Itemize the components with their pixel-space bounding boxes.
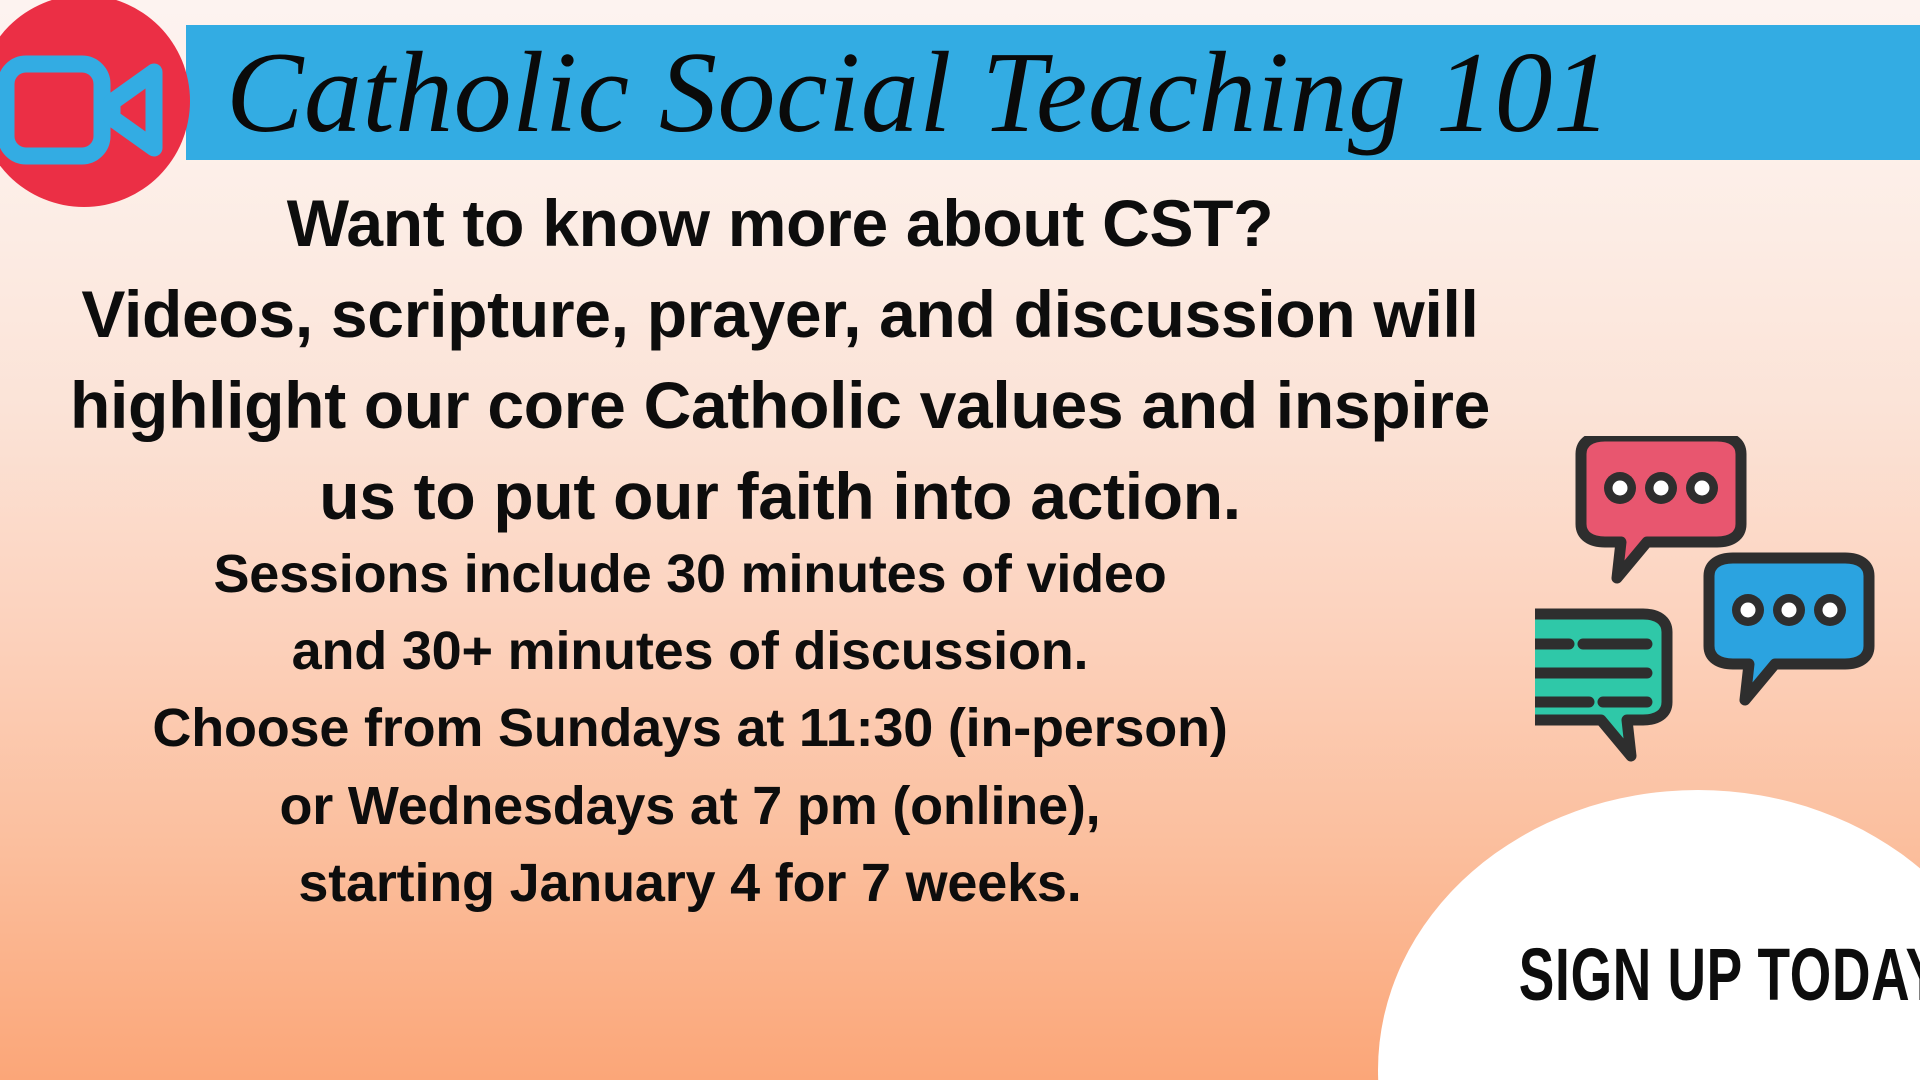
headline-line-3: highlight our core Catholic values and i… <box>70 360 1490 451</box>
details-line-4: or Wednesdays at 7 pm (online), <box>120 768 1260 845</box>
video-camera-icon <box>0 50 176 170</box>
headline-line-4: us to put our faith into action. <box>70 451 1490 542</box>
headline-line-1: Want to know more about CST? <box>70 178 1490 269</box>
details-line-2: and 30+ minutes of discussion. <box>120 613 1260 690</box>
page-title: Catholic Social Teaching 101 <box>226 35 1612 151</box>
details-line-1: Sessions include 30 minutes of video <box>120 536 1260 613</box>
signup-cta-label[interactable]: SIGN UP TODAY! <box>1519 938 1821 1012</box>
title-bar: Catholic Social Teaching 101 <box>186 25 1920 160</box>
poster-canvas: Catholic Social Teaching 101 Want to kno… <box>0 0 1920 1080</box>
session-details-text: Sessions include 30 minutes of video and… <box>120 536 1260 922</box>
headline-line-2: Videos, scripture, prayer, and discussio… <box>70 269 1490 360</box>
details-line-5: starting January 4 for 7 weeks. <box>120 845 1260 922</box>
headline-text: Want to know more about CST? Videos, scr… <box>70 178 1490 542</box>
speech-bubbles-group <box>1535 436 1920 776</box>
speech-bubble-teal-icon <box>1535 614 1667 756</box>
details-line-3: Choose from Sundays at 11:30 (in-person) <box>120 690 1260 767</box>
speech-bubble-blue-icon <box>1709 558 1869 700</box>
